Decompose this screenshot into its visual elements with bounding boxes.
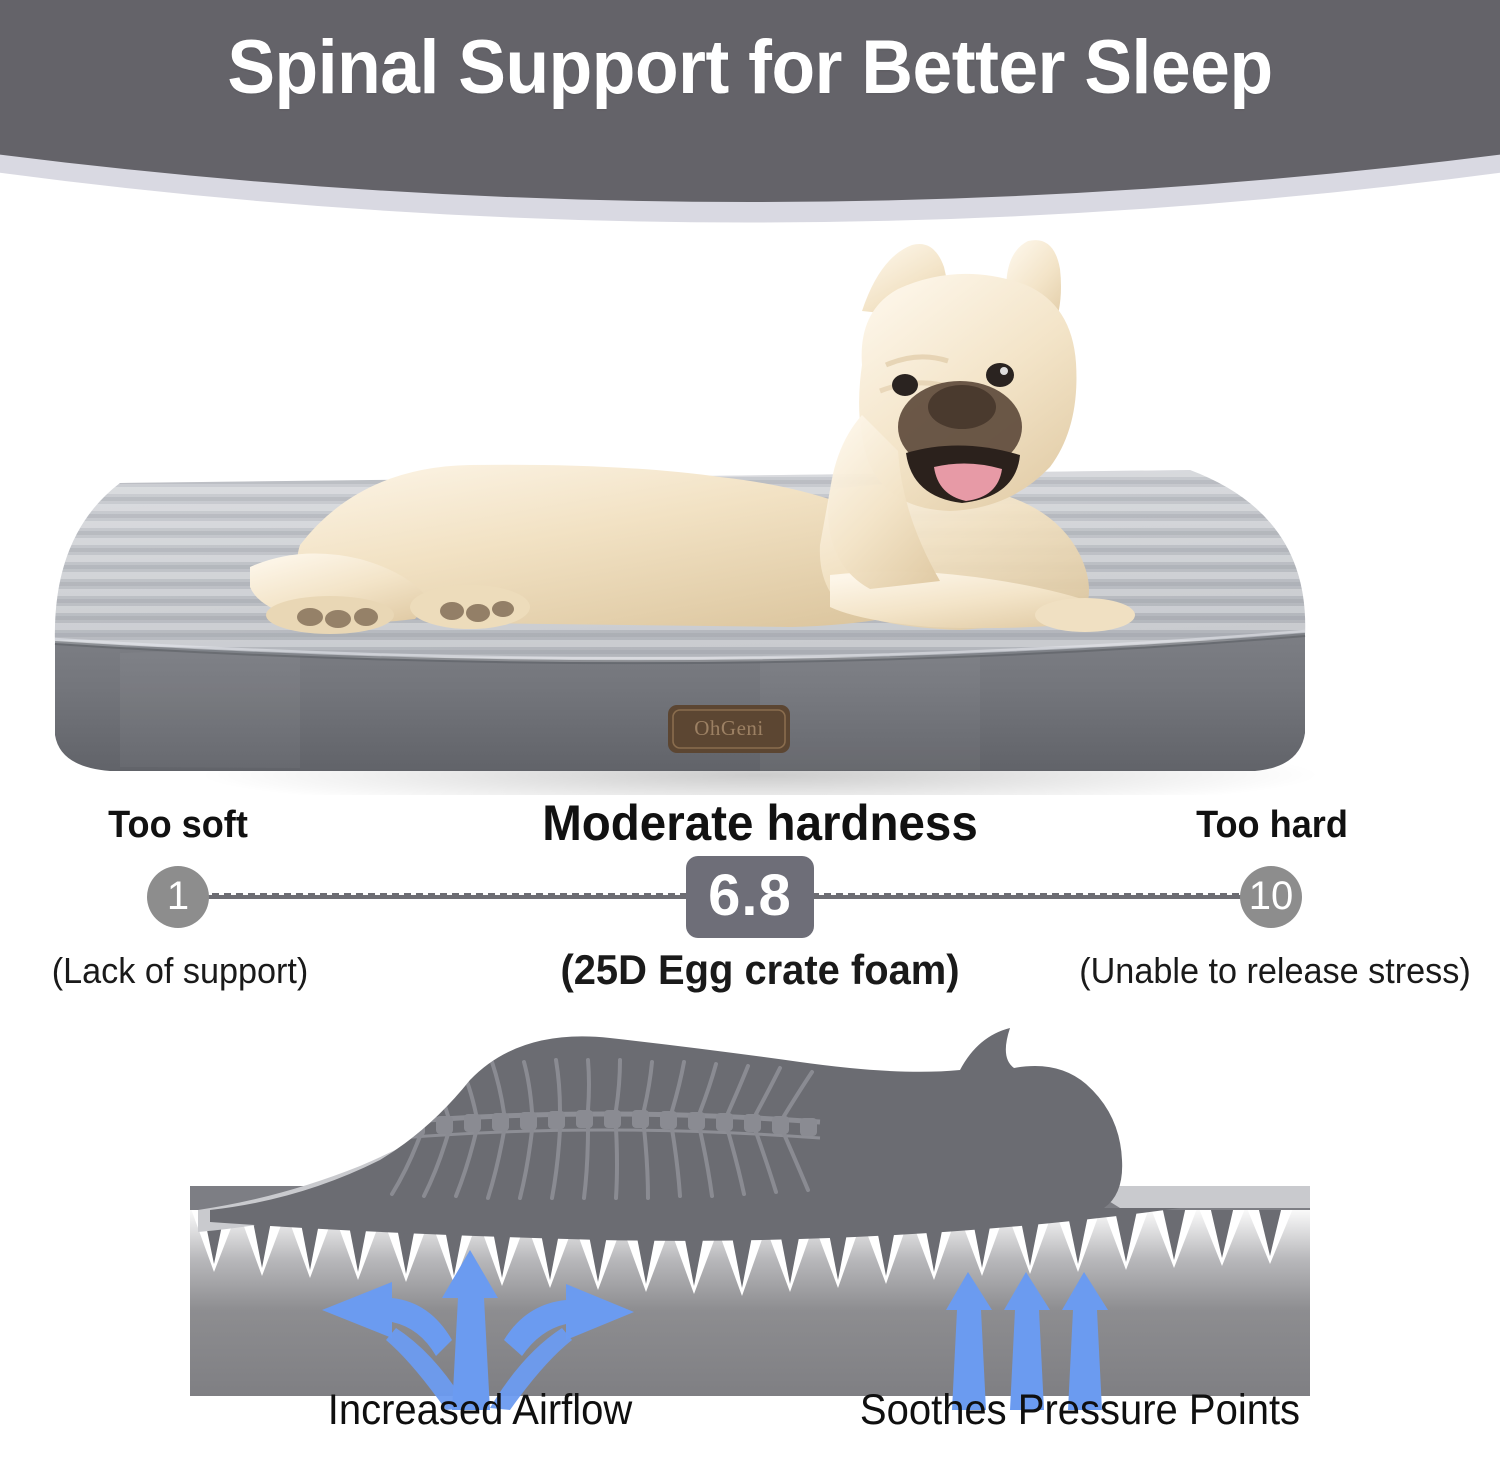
dog-nose xyxy=(928,385,996,429)
scale-sublabel-right: (Unable to release stress) xyxy=(1061,950,1489,992)
foam-cross-section-diagram xyxy=(0,1010,1500,1370)
scale-marker-max: 10 xyxy=(1240,866,1302,928)
brand-patch-label: OhGeni xyxy=(694,716,764,740)
scale-label-too-soft: Too soft xyxy=(83,804,273,847)
cross-section-illustration xyxy=(0,1010,1500,1410)
scale-label-too-hard: Too hard xyxy=(1177,804,1367,847)
dog-silhouette xyxy=(210,1028,1180,1241)
product-infographic: Spinal Support for Better Sleep xyxy=(0,0,1500,1472)
scale-label-moderate: Moderate hardness xyxy=(513,794,1007,852)
product-photo: OhGeni xyxy=(0,215,1500,795)
diagram-captions: Increased Airflow Soothes Pressure Point… xyxy=(0,1386,1500,1466)
dog-eye-right xyxy=(986,363,1014,387)
hardness-scale: Too soft Moderate hardness Too hard 1 10… xyxy=(0,790,1500,1005)
caption-soothes-pressure-points: Soothes Pressure Points xyxy=(755,1386,1406,1435)
header-banner: Spinal Support for Better Sleep xyxy=(0,0,1500,250)
product-illustration: OhGeni xyxy=(0,215,1500,795)
scale-sublabel-left: (Lack of support) xyxy=(19,950,342,992)
dog-paw-rear xyxy=(297,608,378,628)
scale-sublabel-center: (25D Egg crate foam) xyxy=(485,946,1036,994)
dog-eye-left xyxy=(892,374,918,396)
brand-patch: OhGeni xyxy=(668,705,790,753)
scale-value-badge: 6.8 xyxy=(686,856,814,938)
caption-increased-airflow: Increased Airflow xyxy=(182,1386,777,1435)
page-title: Spinal Support for Better Sleep xyxy=(45,24,1455,111)
scale-marker-min: 1 xyxy=(147,866,209,928)
